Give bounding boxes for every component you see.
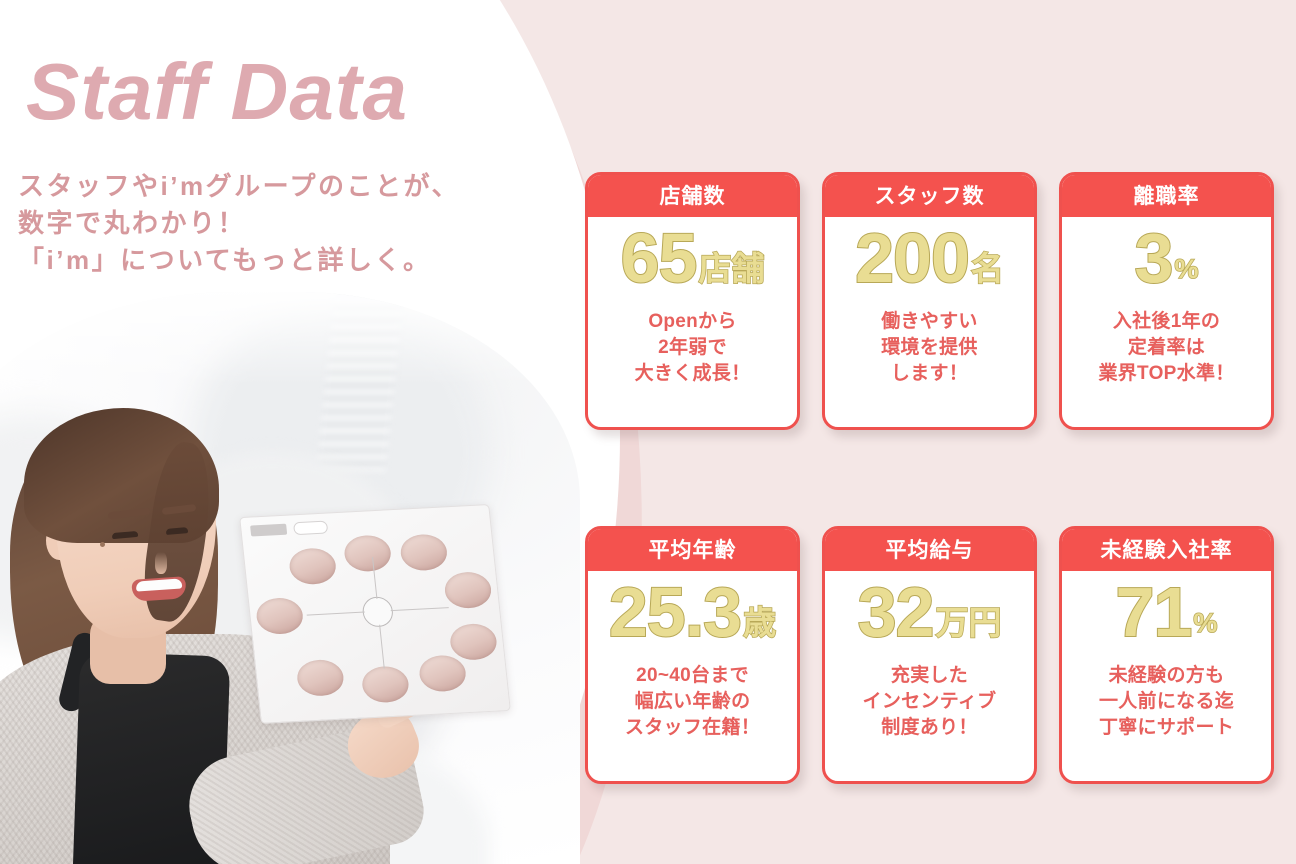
board-label [250,524,287,537]
eye-thumbnail [443,571,493,609]
stat-card-value: 32万円 [825,577,1034,655]
eye-thumbnail [418,654,468,692]
stat-card-description: 20~40台まで 幅広い年齢の スタッフ在籍！ [619,663,766,740]
stat-card-header: 平均給与 [825,529,1034,571]
stat-card-description: 未経験の方も 一人前になる迄 丁寧にサポート [1093,663,1240,740]
stat-unit: 万円 [935,606,1001,639]
stat-number: 200 [855,223,969,293]
stat-number: 25 [609,577,685,647]
stat-unit: 歳 [743,606,776,639]
staff-photo [0,292,580,864]
stat-card-average-age: 平均年齢 25.3歳 20~40台まで 幅広い年齢の スタッフ在籍！ [585,526,800,784]
chart-board [239,504,511,724]
stat-card-grid: 店舗数 65店舗 Openから 2年弱で 大きく成長！ スタッフ数 200名 働… [585,172,1274,784]
stat-card-value: 3% [1062,223,1271,301]
stat-card-value: 200名 [825,223,1034,301]
stat-number: 32 [858,577,934,647]
stat-card-inexperienced-hires: 未経験入社率 71% 未経験の方も 一人前になる迄 丁寧にサポート [1059,526,1274,784]
stat-card-header: 未経験入社率 [1062,529,1271,571]
stat-card-description: Openから 2年弱で 大きく成長！ [629,309,757,386]
board-center-node [361,596,394,627]
board-connector [379,625,385,669]
stat-number: 3 [1135,223,1173,293]
stat-card-description: 入社後1年の 定着率は 業界TOP水準！ [1092,309,1240,386]
stat-card-header: スタッフ数 [825,175,1034,217]
stat-card-header: 平均年齢 [588,529,797,571]
stat-card-value: 25.3歳 [588,577,797,655]
stat-unit: % [1174,256,1198,283]
stat-unit: % [1193,610,1217,637]
stat-card-average-salary: 平均給与 32万円 充実した インセンティブ 制度あり！ [822,526,1037,784]
eye-thumbnail [361,665,411,703]
stat-card-staff: スタッフ数 200名 働きやすい 環境を提供 します！ [822,172,1037,430]
eye-thumbnail [255,597,305,635]
stat-card-header: 離職率 [1062,175,1271,217]
nose [155,552,167,574]
eye-thumbnail [399,533,449,571]
staff-data-infographic: Staff Data スタッフやi’mグループのことが、 数字で丸わかり！ 「i… [0,0,1296,864]
stat-card-stores: 店舗数 65店舗 Openから 2年弱で 大きく成長！ [585,172,800,430]
board-pill [293,521,328,536]
page-subtitle: スタッフやi’mグループのことが、 数字で丸わかり！ 「i’m」についてもっと詳… [18,168,460,279]
stat-card-description: 充実した インセンティブ 制度あり！ [857,663,1003,740]
eye-thumbnail [449,623,499,661]
stat-number: 65 [621,223,697,293]
stat-unit: 名 [971,252,1004,285]
stat-card-value: 65店舗 [588,223,797,301]
eye-thumbnail [295,659,345,697]
eye-thumbnail [288,547,338,585]
stat-card-description: 働きやすい 環境を提供 します！ [875,309,984,386]
board-connector [391,607,449,611]
stat-number: 71 [1116,577,1192,647]
stat-card-value: 71% [1062,577,1271,655]
board-connector [307,612,365,616]
stat-card-turnover: 離職率 3% 入社後1年の 定着率は 業界TOP水準！ [1059,172,1274,430]
eye-thumbnail [343,534,393,572]
page-title: Staff Data [26,52,408,132]
stat-decimal: .3 [685,577,741,647]
stat-card-header: 店舗数 [588,175,797,217]
stat-unit: 店舗 [698,252,764,285]
mole [100,542,105,547]
